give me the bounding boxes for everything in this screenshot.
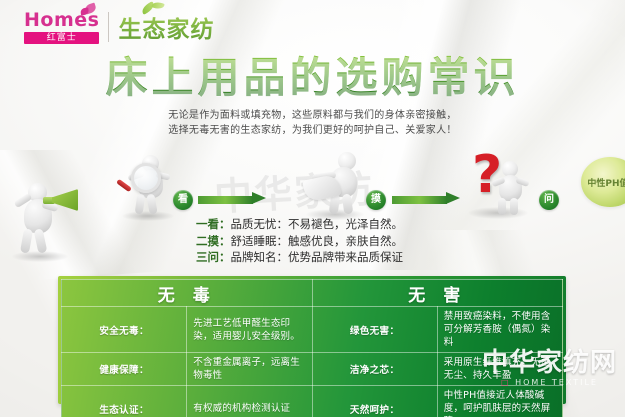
logo-divider	[108, 12, 109, 42]
row-key: 健康保障：	[62, 353, 187, 386]
row-value: 中性PH值接近人体酸碱度，呵护肌肤层的天然屏障	[437, 386, 562, 417]
row-value: 采用原生纤维填充，无菌无尘、持久丰盈	[437, 353, 562, 386]
green-arrow-icon	[392, 194, 460, 206]
table-row: 安全无毒： 先进工艺低甲醛生态印染，适用婴儿安全级别。 绿色无害： 禁用致癌染料…	[62, 307, 563, 353]
tip-text: 品牌知名：优势品牌带来品质保证	[231, 250, 404, 264]
neutral-ph-label: 中性PH值	[587, 176, 625, 189]
row-key: 生态认证：	[62, 386, 187, 417]
row-value: 不含重金属离子，远离生物毒性	[187, 353, 312, 386]
row-key: 绿色无害：	[312, 307, 437, 353]
table-row: 生态认证： 有权威的机构检测认证 天然呵护： 中性PH值接近人体酸碱度，呵护肌肤…	[62, 386, 563, 417]
tip-key: 三问：	[196, 250, 231, 264]
tips-list: 一看：品质无忧：不易褪色，光泽自然。 二摸：舒适睡眠：触感优良，亲肤自然。 三问…	[196, 216, 403, 266]
row-key: 天然呵护：	[312, 386, 437, 417]
table-header-harmless: 无 害	[312, 280, 563, 307]
step-badge-touch: 摸	[366, 190, 386, 210]
list-item: 二摸：舒适睡眠：触感优良，亲肤自然。	[196, 233, 403, 250]
brand-logo: Homes 红富士 生态家纺	[24, 10, 214, 44]
poster-canvas: Homes 红富士 生态家纺 床上用品的选购常识 无论是作为面料或填充物，这些原…	[0, 0, 625, 417]
megaphone-mascot-icon	[8, 171, 74, 259]
row-value: 有权威的机构检测认证	[187, 386, 312, 417]
list-item: 一看：品质无忧：不易褪色，光泽自然。	[196, 216, 403, 233]
page-subtitle: 无论是作为面料或填充物，这些原料都与我们的身体亲密接触， 选择无毒无害的生态家纺…	[0, 108, 625, 138]
row-key: 洁净之芯：	[312, 353, 437, 386]
comparison-table-frame: 无 毒 无 害 安全无毒： 先进工艺低甲醛生态印染，适用婴儿安全级别。 绿色无害…	[58, 276, 566, 404]
list-item: 三问：品牌知名：优势品牌带来品质保证	[196, 249, 403, 266]
logo-chinese-name: 红富士	[24, 32, 99, 44]
step-badge-look: 看	[173, 190, 193, 210]
tip-text: 品质无忧：不易褪色，光泽自然。	[231, 217, 404, 231]
row-value: 禁用致癌染料，不使用含可分解芳香胺（偶氮）染料	[437, 307, 562, 353]
touching-figure-icon	[300, 147, 372, 221]
homes-logo: Homes 红富士	[24, 11, 99, 44]
magnifier-figure-icon	[118, 149, 180, 221]
step-badge-ask: 问	[539, 190, 559, 210]
table-row: 健康保障： 不含重金属离子，远离生物毒性 洁净之芯： 采用原生纤维填充，无菌无尘…	[62, 353, 563, 386]
subtitle-line-1: 无论是作为面料或填充物，这些原料都与我们的身体亲密接触，	[0, 108, 625, 123]
eco-label: 生态家纺	[118, 10, 214, 44]
tip-key: 一看：	[196, 217, 231, 231]
question-mark-figure-icon: ?	[458, 145, 538, 221]
comparison-table: 无 毒 无 害 安全无毒： 先进工艺低甲醛生态印染，适用婴儿安全级别。 绿色无害…	[61, 279, 563, 417]
table-header-nontoxic: 无 毒	[62, 280, 313, 307]
question-mark-icon: ?	[472, 149, 502, 201]
subtitle-line-2: 选择无毒无害的生态家纺，为我们更好的呵护自己、关爱家人！	[0, 123, 625, 138]
green-arrow-icon	[198, 194, 266, 206]
tip-text: 舒适睡眠：触感优良，亲肤自然。	[231, 234, 404, 248]
row-value: 先进工艺低甲醛生态印染，适用婴儿安全级别。	[187, 307, 312, 353]
page-title: 床上用品的选购常识	[0, 54, 625, 102]
tip-key: 二摸：	[196, 234, 231, 248]
row-key: 安全无毒：	[62, 307, 187, 353]
three-step-flow: 看 摸 ? 问	[0, 143, 625, 218]
eco-label-text: 生态家纺	[118, 17, 214, 43]
table-header-row: 无 毒 无 害	[62, 280, 563, 307]
